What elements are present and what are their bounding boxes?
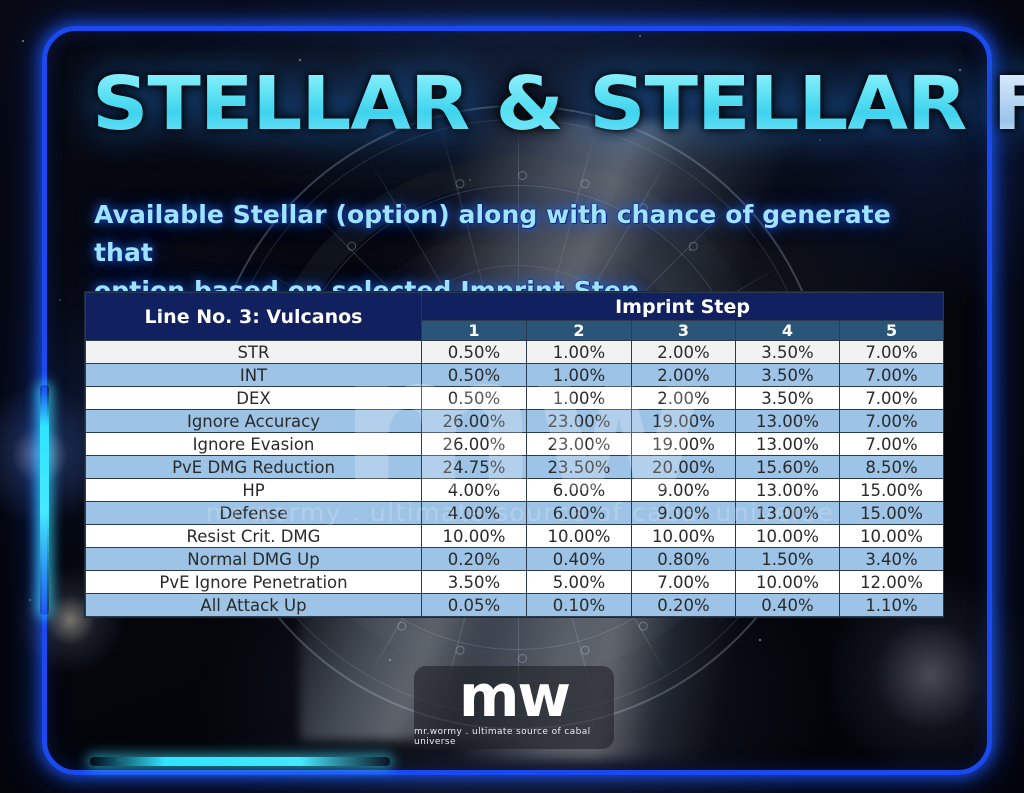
- row-value-step-3: 0.80%: [632, 548, 736, 571]
- row-value-step-1: 3.50%: [422, 571, 527, 594]
- table-head: Line No. 3: Vulcanos Imprint Step 12345: [86, 293, 944, 341]
- title-ampersand: &: [495, 61, 562, 147]
- row-value-step-5: 7.00%: [840, 387, 944, 410]
- row-value-step-3: 2.00%: [632, 341, 736, 364]
- row-value-step-5: 3.40%: [840, 548, 944, 571]
- table-row: DEX0.50%1.00%2.00%3.50%7.00%: [86, 387, 944, 410]
- row-value-step-5: 7.00%: [840, 341, 944, 364]
- row-value-step-5: 7.00%: [840, 410, 944, 433]
- row-option-name: Defense: [86, 502, 422, 525]
- row-value-step-4: 10.00%: [736, 571, 840, 594]
- logo-tagline: mr.wormy . ultimate source of cabal univ…: [414, 727, 614, 747]
- row-value-step-5: 7.00%: [840, 364, 944, 387]
- row-value-step-3: 2.00%: [632, 364, 736, 387]
- row-value-step-3: 19.00%: [632, 410, 736, 433]
- subtitle-line-1: Available Stellar (option) along with ch…: [94, 196, 944, 272]
- row-option-name: Ignore Evasion: [86, 433, 422, 456]
- table-row: PvE Ignore Penetration3.50%5.00%7.00%10.…: [86, 571, 944, 594]
- row-option-name: Resist Crit. DMG: [86, 525, 422, 548]
- row-value-step-3: 20.00%: [632, 456, 736, 479]
- row-value-step-3: 0.20%: [632, 594, 736, 617]
- row-value-step-2: 1.00%: [527, 364, 632, 387]
- title-word-stellar-2: STELLAR: [589, 62, 966, 146]
- header-step-5: 5: [840, 321, 944, 341]
- row-value-step-1: 0.20%: [422, 548, 527, 571]
- row-value-step-5: 7.00%: [840, 433, 944, 456]
- row-value-step-4: 10.00%: [736, 525, 840, 548]
- table-row: Resist Crit. DMG10.00%10.00%10.00%10.00%…: [86, 525, 944, 548]
- row-value-step-3: 19.00%: [632, 433, 736, 456]
- table-row: Defense4.00%6.00%9.00%13.00%15.00%: [86, 502, 944, 525]
- row-option-name: Ignore Accuracy: [86, 410, 422, 433]
- row-value-step-2: 23.00%: [527, 433, 632, 456]
- row-value-step-1: 0.50%: [422, 341, 527, 364]
- table-row: HP4.00%6.00%9.00%13.00%15.00%: [86, 479, 944, 502]
- table-row: STR0.50%1.00%2.00%3.50%7.00%: [86, 341, 944, 364]
- table-row: Ignore Accuracy26.00%23.00%19.00%13.00%7…: [86, 410, 944, 433]
- row-option-name: DEX: [86, 387, 422, 410]
- row-value-step-4: 3.50%: [736, 341, 840, 364]
- row-value-step-5: 8.50%: [840, 456, 944, 479]
- row-value-step-2: 6.00%: [527, 502, 632, 525]
- row-value-step-5: 12.00%: [840, 571, 944, 594]
- row-value-step-3: 9.00%: [632, 502, 736, 525]
- poster-stage: STELLAR & STELLAR FORCE Available Stella…: [0, 0, 1024, 793]
- title-word-stellar-1: STELLAR: [92, 62, 469, 146]
- logo-mark: mw: [459, 669, 569, 723]
- row-value-step-5: 15.00%: [840, 502, 944, 525]
- row-value-step-1: 4.00%: [422, 502, 527, 525]
- row-value-step-1: 26.00%: [422, 433, 527, 456]
- row-value-step-4: 3.50%: [736, 364, 840, 387]
- row-value-step-3: 9.00%: [632, 479, 736, 502]
- row-option-name: All Attack Up: [86, 594, 422, 617]
- row-value-step-3: 2.00%: [632, 387, 736, 410]
- table-row: All Attack Up0.05%0.10%0.20%0.40%1.10%: [86, 594, 944, 617]
- stellar-table-container: Line No. 3: Vulcanos Imprint Step 12345 …: [84, 291, 944, 618]
- header-line-no: Line No. 3: Vulcanos: [86, 293, 422, 341]
- row-value-step-1: 4.00%: [422, 479, 527, 502]
- row-option-name: HP: [86, 479, 422, 502]
- frame-cyan-highlight-left: [40, 385, 49, 615]
- table-row: Ignore Evasion26.00%23.00%19.00%13.00%7.…: [86, 433, 944, 456]
- row-value-step-2: 0.10%: [527, 594, 632, 617]
- row-value-step-1: 24.75%: [422, 456, 527, 479]
- row-value-step-4: 13.00%: [736, 433, 840, 456]
- header-step-3: 3: [632, 321, 736, 341]
- row-value-step-5: 15.00%: [840, 479, 944, 502]
- table-row: Normal DMG Up0.20%0.40%0.80%1.50%3.40%: [86, 548, 944, 571]
- row-value-step-4: 13.00%: [736, 502, 840, 525]
- row-value-step-4: 13.00%: [736, 410, 840, 433]
- row-value-step-2: 23.50%: [527, 456, 632, 479]
- row-value-step-2: 10.00%: [527, 525, 632, 548]
- row-value-step-2: 5.00%: [527, 571, 632, 594]
- header-step-4: 4: [736, 321, 840, 341]
- table-row: INT0.50%1.00%2.00%3.50%7.00%: [86, 364, 944, 387]
- row-value-step-3: 7.00%: [632, 571, 736, 594]
- row-value-step-4: 3.50%: [736, 387, 840, 410]
- row-value-step-1: 0.50%: [422, 364, 527, 387]
- table-body: STR0.50%1.00%2.00%3.50%7.00%INT0.50%1.00…: [86, 341, 944, 617]
- row-option-name: PvE DMG Reduction: [86, 456, 422, 479]
- row-value-step-4: 0.40%: [736, 594, 840, 617]
- row-value-step-5: 1.10%: [840, 594, 944, 617]
- row-value-step-2: 0.40%: [527, 548, 632, 571]
- header-imprint-step: Imprint Step: [422, 293, 944, 321]
- table-header-row-1: Line No. 3: Vulcanos Imprint Step: [86, 293, 944, 321]
- row-value-step-1: 26.00%: [422, 410, 527, 433]
- header-step-1: 1: [422, 321, 527, 341]
- row-value-step-4: 15.60%: [736, 456, 840, 479]
- row-value-step-3: 10.00%: [632, 525, 736, 548]
- row-value-step-2: 6.00%: [527, 479, 632, 502]
- stellar-option-table: Line No. 3: Vulcanos Imprint Step 12345 …: [85, 292, 944, 617]
- row-value-step-1: 0.50%: [422, 387, 527, 410]
- row-value-step-1: 0.05%: [422, 594, 527, 617]
- row-option-name: PvE Ignore Penetration: [86, 571, 422, 594]
- row-value-step-2: 23.00%: [527, 410, 632, 433]
- page-title: STELLAR & STELLAR FORCE: [92, 62, 1004, 146]
- row-value-step-1: 10.00%: [422, 525, 527, 548]
- row-value-step-2: 1.00%: [527, 341, 632, 364]
- brand-logo: mw mr.wormy . ultimate source of cabal u…: [414, 666, 614, 749]
- row-option-name: Normal DMG Up: [86, 548, 422, 571]
- table-row: PvE DMG Reduction24.75%23.50%20.00%15.60…: [86, 456, 944, 479]
- title-word-force: FORCE: [993, 62, 1024, 146]
- row-option-name: STR: [86, 341, 422, 364]
- frame-cyan-highlight-bottom: [90, 757, 390, 766]
- row-option-name: INT: [86, 364, 422, 387]
- row-value-step-5: 10.00%: [840, 525, 944, 548]
- row-value-step-2: 1.00%: [527, 387, 632, 410]
- header-step-2: 2: [527, 321, 632, 341]
- row-value-step-4: 13.00%: [736, 479, 840, 502]
- row-value-step-4: 1.50%: [736, 548, 840, 571]
